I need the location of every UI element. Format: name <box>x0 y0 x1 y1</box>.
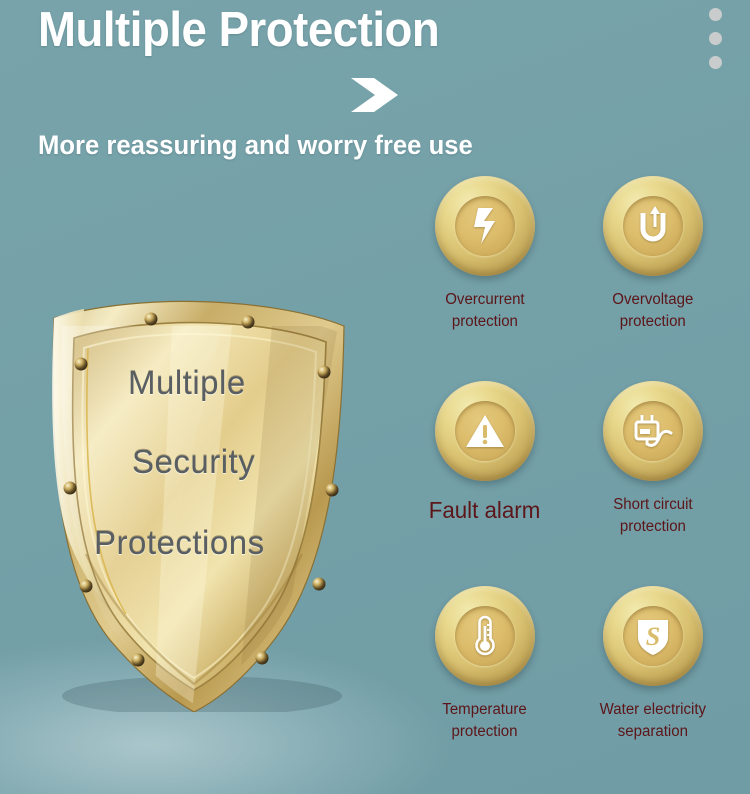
svg-text:S: S <box>646 622 660 651</box>
feature-coin <box>435 586 535 686</box>
feature-label: Overvoltage protection <box>612 289 693 333</box>
feature-label-line1: Overcurrent <box>445 289 524 311</box>
feature-fault-alarm[interactable]: Fault alarm <box>404 381 566 586</box>
feature-temperature-protection[interactable]: Temperature protection <box>404 586 566 791</box>
feature-label-line1: Water electricity <box>600 699 706 721</box>
feature-label-line2: protection <box>443 721 527 743</box>
feature-label-line2: protection <box>445 311 524 333</box>
power-plug-cord-icon <box>623 401 683 461</box>
feature-coin <box>603 176 703 276</box>
page-subtitle: More reassuring and worry free use <box>38 130 473 161</box>
page-title: Multiple Protection <box>38 2 439 58</box>
feature-coin <box>435 176 535 276</box>
feature-label: Water electricity separation <box>600 699 706 743</box>
feature-coin: S <box>603 586 703 686</box>
feature-label-line2: protection <box>612 311 693 333</box>
feature-label: Overcurrent protection <box>445 289 524 333</box>
menu-dot-icon-3 <box>709 56 722 69</box>
feature-label-line1: Short circuit <box>613 494 692 516</box>
feature-coin <box>603 381 703 481</box>
feature-label-line1: Fault alarm <box>429 497 541 525</box>
feature-coin <box>435 381 535 481</box>
feature-overcurrent-protection[interactable]: Overcurrent protection <box>404 176 566 381</box>
shield-graphic <box>22 292 372 712</box>
feature-label: Fault alarm <box>429 497 541 525</box>
menu-dot-icon-1 <box>709 8 722 21</box>
thermometer-icon <box>455 606 515 666</box>
multiple-security-protections-shield: Multiple Security Protections <box>22 292 372 712</box>
feature-label: Short circuit protection <box>613 494 692 538</box>
promo-banner: Multiple Protection More reassuring and … <box>0 0 750 794</box>
feature-label: Temperature protection <box>443 699 527 743</box>
feature-water-electricity-separation[interactable]: S Water electricity separation <box>572 586 734 791</box>
feature-short-circuit-protection[interactable]: Short circuit protection <box>572 381 734 586</box>
protection-features-grid: Overcurrent protection Overvoltage prote… <box>404 176 734 791</box>
feature-label-line1: Overvoltage <box>612 289 693 311</box>
lightning-bolt-icon <box>455 196 515 256</box>
menu-dots[interactable] <box>709 8 722 69</box>
feature-overvoltage-protection[interactable]: Overvoltage protection <box>572 176 734 381</box>
shield-s-icon: S <box>623 606 683 666</box>
feature-label-line2: protection <box>613 516 692 538</box>
feature-label-line2: separation <box>600 721 706 743</box>
feature-label-line1: Temperature <box>443 699 527 721</box>
menu-dot-icon-2 <box>709 32 722 45</box>
warning-triangle-icon <box>455 401 515 461</box>
u-arrow-up-icon <box>623 196 683 256</box>
